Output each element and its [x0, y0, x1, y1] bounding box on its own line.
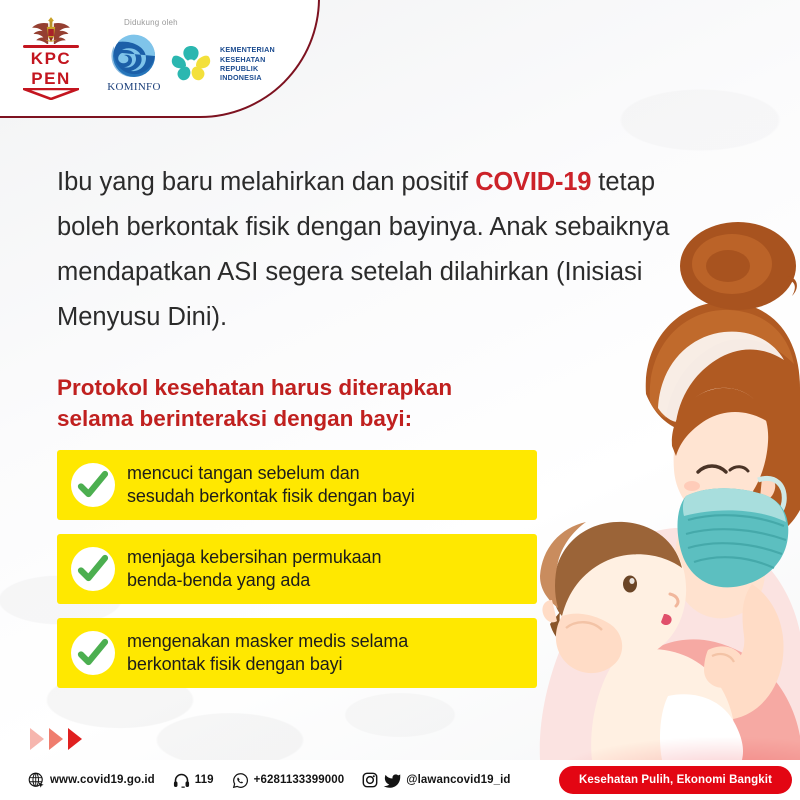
twitter-icon: [383, 772, 401, 788]
kominfo-wave-icon: [108, 34, 160, 80]
checklist-item-line2: berkontak fisik dengan bayi: [127, 653, 408, 676]
kemenkes-flower-icon: [168, 42, 214, 86]
triple-play-arrow-icon: [30, 728, 82, 750]
checklist-item-text: menjaga kebersihan permukaan benda-benda…: [127, 546, 381, 592]
checklist-item-line1: mengenakan masker medis selama: [127, 630, 408, 653]
check-circle-icon: [71, 631, 115, 675]
kpc-book-shape: [23, 88, 79, 98]
kemenkes-line1: KEMENTERIAN: [220, 45, 275, 54]
kemenkes-wordmark: KEMENTERIAN KESEHATAN REPUBLIK INDONESIA: [220, 45, 275, 83]
protocol-heading-line2: selama berinteraksi dengan bayi:: [57, 403, 597, 434]
covid19-highlight: COVID-19: [475, 168, 591, 196]
checklist-item-line1: mencuci tangan sebelum dan: [127, 462, 415, 485]
checklist-item: menjaga kebersihan permukaan benda-benda…: [57, 534, 537, 604]
kemenkes-logo: KEMENTERIAN KESEHATAN REPUBLIK INDONESIA: [168, 36, 275, 92]
checklist-item-line2: benda-benda yang ada: [127, 569, 381, 592]
tagline-badge: Kesehatan Pulih, Ekonomi Bangkit: [559, 766, 792, 794]
contact-hotline[interactable]: 119: [173, 772, 214, 789]
header-logos: KPC PEN Didukung oleh KOMINFO: [0, 0, 340, 120]
protocol-heading-line1: Protokol kesehatan harus diterapkan: [57, 372, 597, 403]
supported-by-label: Didukung oleh: [124, 18, 178, 27]
check-circle-icon: [71, 547, 115, 591]
kemenkes-line3: REPUBLIK: [220, 64, 275, 73]
infographic-poster: KPC PEN Didukung oleh KOMINFO: [0, 0, 800, 800]
kpc-logo-line1: KPC: [31, 50, 71, 67]
kemenkes-line2: KESEHATAN: [220, 55, 275, 64]
globe-cursor-icon: [28, 772, 45, 789]
kpc-logo-line2: PEN: [31, 70, 70, 87]
contact-whatsapp-label: +6281133399000: [254, 774, 345, 786]
contact-website-label: www.covid19.go.id: [50, 774, 155, 786]
kominfo-wordmark: KOMINFO: [107, 81, 160, 93]
checklist-item-text: mencuci tangan sebelum dan sesudah berko…: [127, 462, 415, 508]
lead-paragraph: Ibu yang baru melahirkan dan positif COV…: [57, 160, 697, 340]
kpc-top-rule: [23, 45, 79, 48]
protocol-heading: Protokol kesehatan harus diterapkan sela…: [57, 372, 597, 434]
instagram-icon: [362, 772, 378, 788]
kpc-pen-logo: KPC PEN: [16, 12, 86, 98]
contact-whatsapp[interactable]: +6281133399000: [232, 772, 345, 789]
headset-icon: [173, 772, 190, 789]
checklist-item: mencuci tangan sebelum dan sesudah berko…: [57, 450, 537, 520]
footer-contacts: www.covid19.go.id 119 +6281133399000: [0, 772, 511, 789]
garuda-emblem-icon: [30, 14, 72, 44]
lead-part1: Ibu yang baru melahirkan dan positif: [57, 168, 475, 196]
kominfo-logo: KOMINFO: [98, 34, 170, 96]
checklist-item-line2: sesudah berkontak fisik dengan bayi: [127, 485, 415, 508]
checklist-item: mengenakan masker medis selama berkontak…: [57, 618, 537, 688]
check-circle-icon: [71, 463, 115, 507]
protocol-checklist: mencuci tangan sebelum dan sesudah berko…: [57, 450, 537, 702]
contact-website[interactable]: www.covid19.go.id: [28, 772, 155, 789]
checklist-item-text: mengenakan masker medis selama berkontak…: [127, 630, 408, 676]
contact-hotline-label: 119: [195, 774, 214, 786]
kemenkes-line4: INDONESIA: [220, 73, 275, 82]
contact-social-label: @lawancovid19_id: [406, 774, 510, 786]
checklist-item-line1: menjaga kebersihan permukaan: [127, 546, 381, 569]
contact-social[interactable]: @lawancovid19_id: [362, 772, 510, 788]
whatsapp-icon: [232, 772, 249, 789]
